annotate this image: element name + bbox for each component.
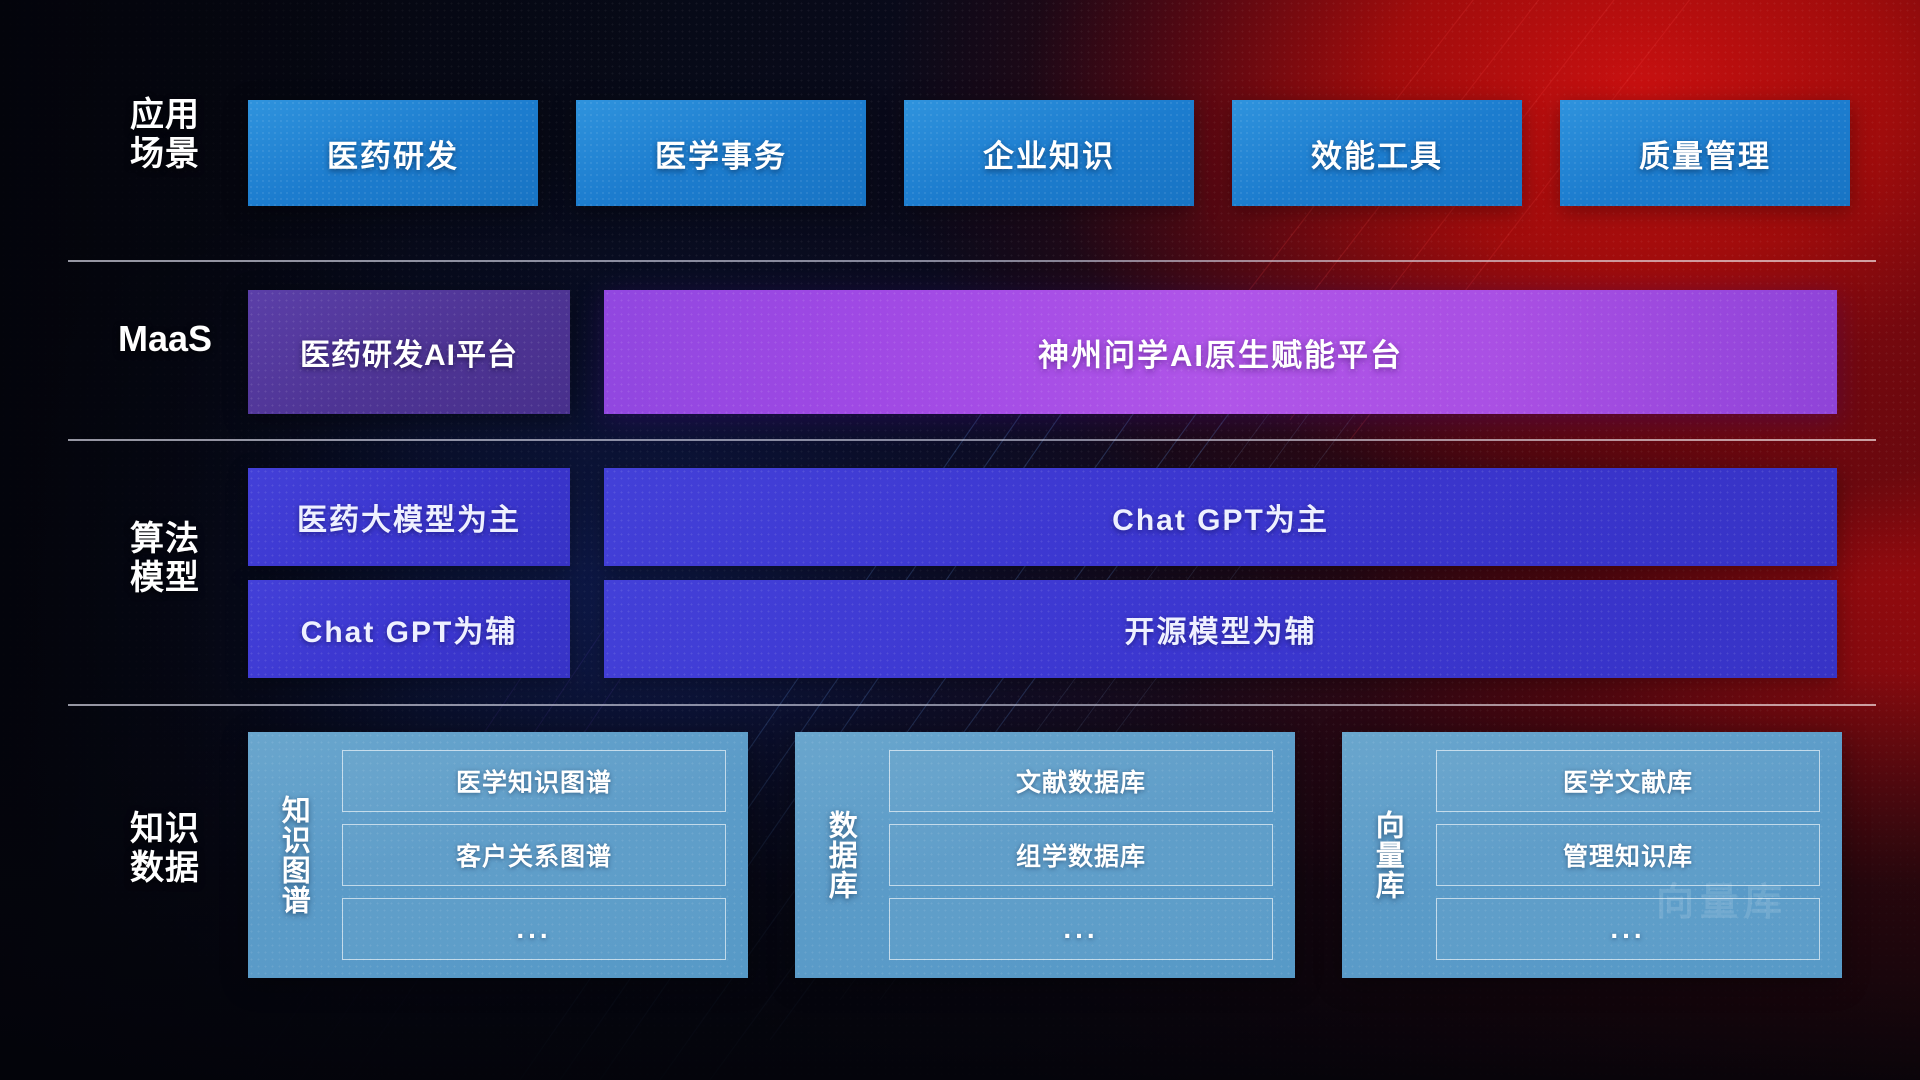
algo-cell-right-secondary[interactable]: 开源模型为辅 <box>604 580 1837 678</box>
algo-cell-left-primary-label: 医药大模型为主 <box>297 495 521 539</box>
knowledge-panel-vector[interactable]: 向量库 向量库 医学文献库 管理知识库 ... <box>1342 732 1842 978</box>
knowledge-panel-database-items: 文献数据库 组学数据库 ... <box>871 746 1279 964</box>
algo-cell-right-primary[interactable]: Chat GPT为主 <box>604 468 1837 566</box>
knowledge-panel-database[interactable]: 数据库 文献数据库 组学数据库 ... <box>795 732 1295 978</box>
knowledge-panel-graph-items: 医学知识图谱 客户关系图谱 ... <box>324 746 732 964</box>
algo-cell-right-secondary-label: 开源模型为辅 <box>1125 607 1317 651</box>
scenario-card-1[interactable]: 医药研发 <box>248 100 538 206</box>
knowledge-item-more[interactable]: ... <box>889 898 1273 960</box>
divider-1 <box>68 260 1876 262</box>
knowledge-item-more[interactable]: ... <box>1436 898 1820 960</box>
divider-2 <box>68 439 1876 441</box>
scenario-card-1-label: 医药研发 <box>327 131 459 176</box>
knowledge-item[interactable]: 医学知识图谱 <box>342 750 726 812</box>
algo-cell-left-secondary[interactable]: Chat GPT为辅 <box>248 580 570 678</box>
row-label-application-scenarios: 应用 场景 <box>96 96 234 174</box>
algo-cell-right-primary-label: Chat GPT为主 <box>1112 495 1329 539</box>
divider-3 <box>68 704 1876 706</box>
algo-cell-left-secondary-label: Chat GPT为辅 <box>301 607 518 651</box>
maas-right-label: 神州问学AI原生赋能平台 <box>1038 330 1403 375</box>
row-algorithm-models: 算法 模型 医药大模型为主 Chat GPT为主 Chat GPT为辅 开源模型… <box>0 468 1920 678</box>
maas-platform-card-right[interactable]: 神州问学AI原生赋能平台 <box>604 290 1837 414</box>
row-label-knowledge-data: 知识 数据 <box>96 810 234 888</box>
row-knowledge-data: 知识 数据 知识图谱 医学知识图谱 客户关系图谱 ... 数据库 文献数据库 组… <box>0 732 1920 978</box>
knowledge-panel-vector-vertical-label: 向量库 <box>1356 746 1418 964</box>
row-label-maas: MaaS <box>96 318 234 359</box>
row-maas: MaaS 医药研发AI平台 神州问学AI原生赋能平台 <box>0 290 1920 414</box>
maas-left-label: 医药研发AI平台 <box>300 330 518 374</box>
scenario-card-2[interactable]: 医学事务 <box>576 100 866 206</box>
scenario-card-2-label: 医学事务 <box>655 131 787 176</box>
knowledge-panel-graph[interactable]: 知识图谱 医学知识图谱 客户关系图谱 ... <box>248 732 748 978</box>
architecture-diagram: 应用 场景 医药研发 医学事务 企业知识 效能工具 质量管理 MaaS 医药研发… <box>0 0 1920 1080</box>
scenario-card-5[interactable]: 质量管理 <box>1560 100 1850 206</box>
scenario-card-3-label: 企业知识 <box>983 131 1115 176</box>
knowledge-panel-vector-items: 医学文献库 管理知识库 ... <box>1418 746 1826 964</box>
scenario-card-4-label: 效能工具 <box>1311 131 1443 176</box>
knowledge-panel-database-vertical-label: 数据库 <box>809 746 871 964</box>
knowledge-item-more[interactable]: ... <box>342 898 726 960</box>
algo-cell-left-primary[interactable]: 医药大模型为主 <box>248 468 570 566</box>
knowledge-item[interactable]: 组学数据库 <box>889 824 1273 886</box>
knowledge-item[interactable]: 客户关系图谱 <box>342 824 726 886</box>
scenario-card-4[interactable]: 效能工具 <box>1232 100 1522 206</box>
knowledge-panel-graph-vertical-label: 知识图谱 <box>262 746 324 964</box>
row-application-scenarios: 应用 场景 医药研发 医学事务 企业知识 效能工具 质量管理 <box>0 100 1920 206</box>
scenario-card-5-label: 质量管理 <box>1639 131 1771 176</box>
row-label-algorithm-models: 算法 模型 <box>96 520 234 598</box>
knowledge-item[interactable]: 管理知识库 <box>1436 824 1820 886</box>
knowledge-item[interactable]: 医学文献库 <box>1436 750 1820 812</box>
knowledge-item[interactable]: 文献数据库 <box>889 750 1273 812</box>
scenario-card-3[interactable]: 企业知识 <box>904 100 1194 206</box>
maas-platform-card-left[interactable]: 医药研发AI平台 <box>248 290 570 414</box>
